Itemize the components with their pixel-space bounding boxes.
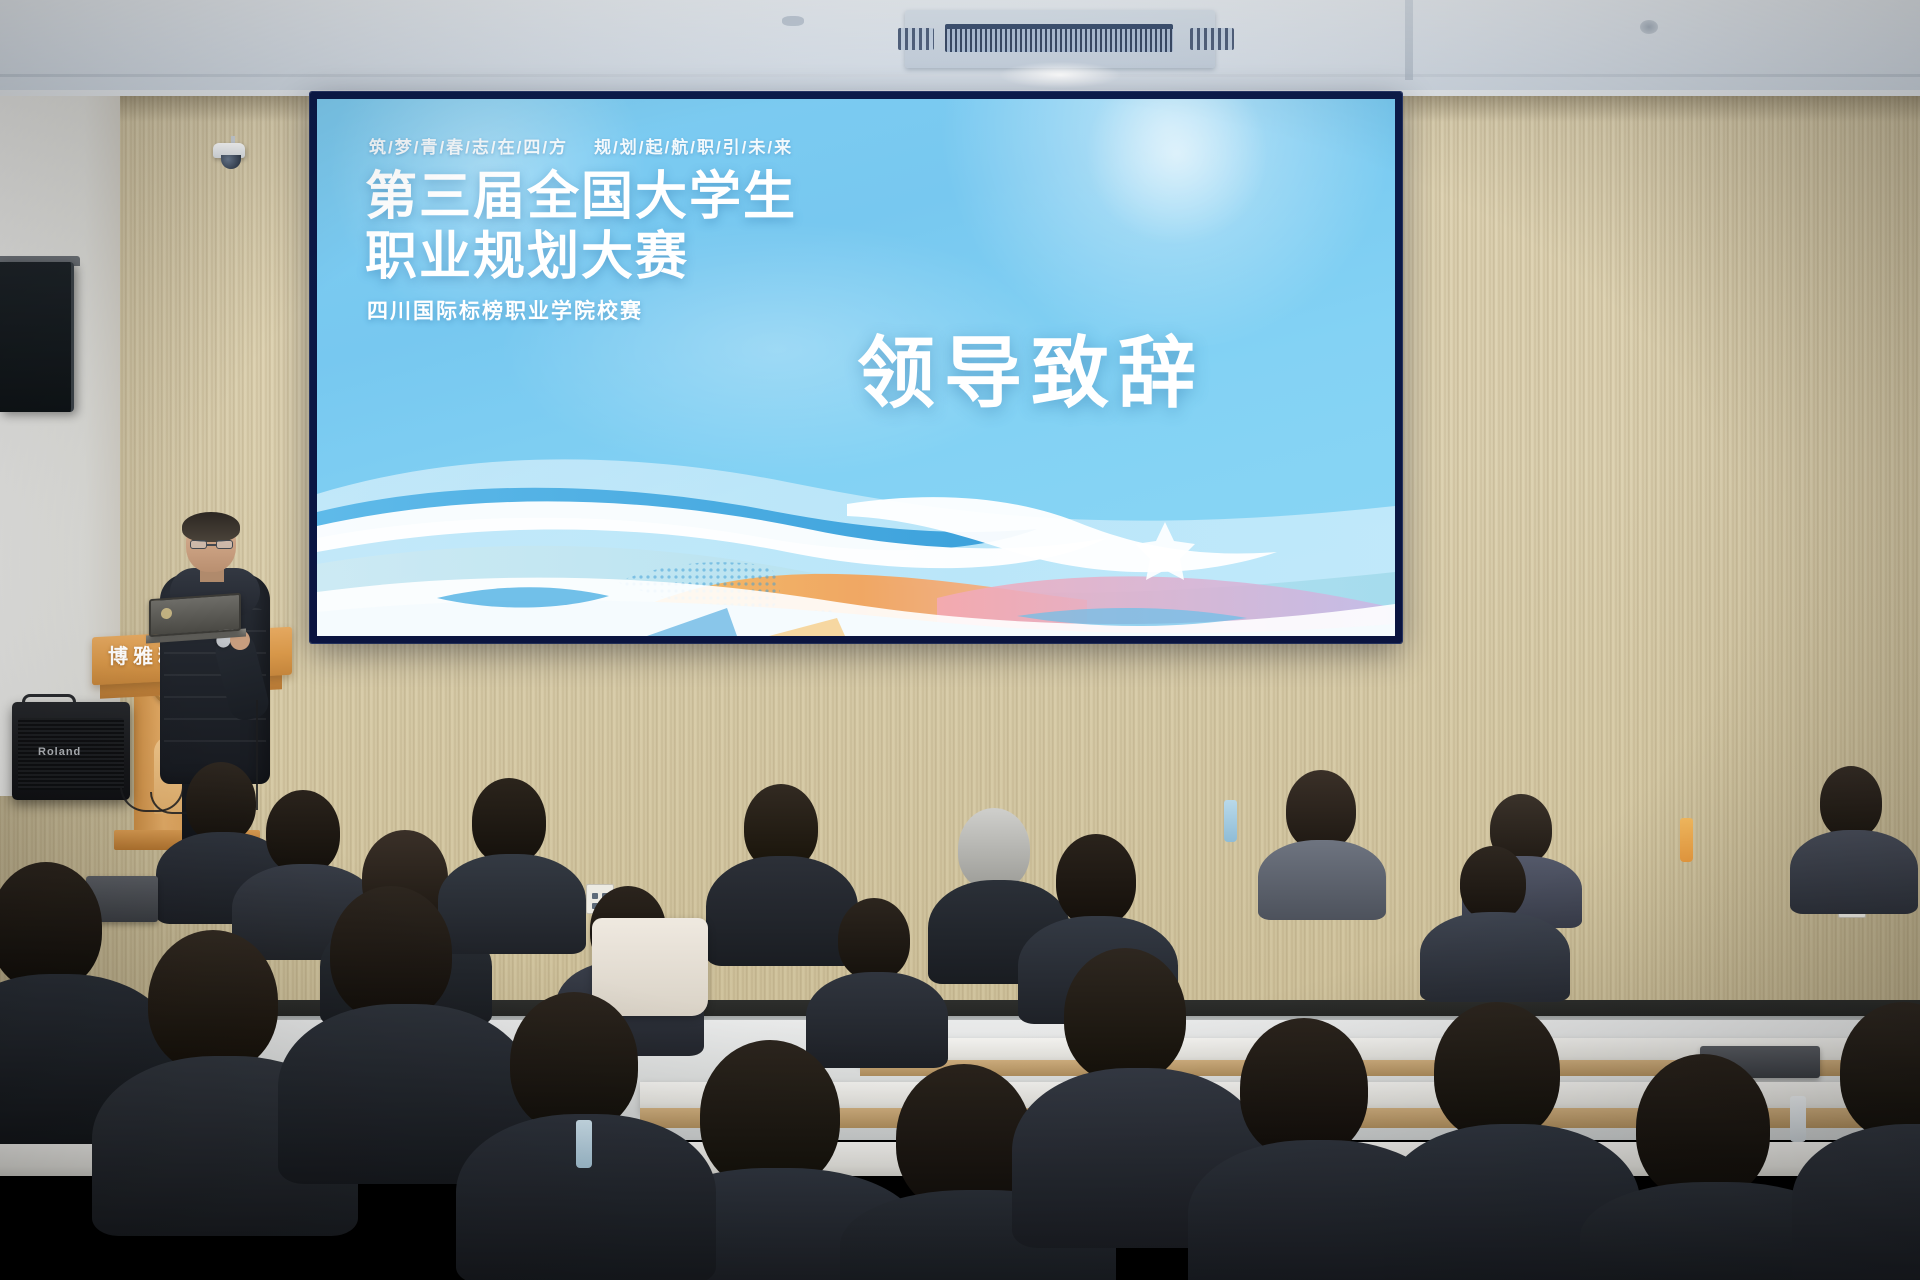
audience-head-front [1064, 948, 1186, 1082]
ceiling-spot-light [1640, 20, 1658, 34]
audience-head [1056, 834, 1136, 926]
audience-head-front [1434, 1002, 1560, 1140]
drink-bottle [1224, 800, 1237, 842]
audience-head [1460, 846, 1526, 920]
handbag [592, 918, 708, 1016]
ceiling-seam [0, 74, 1920, 77]
audience-head [1820, 766, 1882, 838]
audience-head-front [330, 886, 452, 1020]
audience-head-front [148, 930, 278, 1072]
audience-head [186, 762, 256, 842]
slide-title-line2: 职业规划大赛 [365, 227, 797, 287]
audience-shoulders [1258, 840, 1386, 920]
slide-tagline: 筑/梦/青/春/志/在/四/方规/划/起/航/职/引/未/来 [369, 133, 793, 158]
lecture-hall-photo: 筑/梦/青/春/志/在/四/方规/划/起/航/职/引/未/来 第三届全国大学生 … [0, 0, 1920, 1280]
ac-vent-side-left [898, 28, 934, 50]
slide-title-line1: 第三届全国大学生 [365, 167, 797, 227]
slide-subtitle: 四川国际标榜职业学院校赛 [367, 295, 643, 325]
wall-monitor [0, 262, 74, 412]
audience-head [266, 790, 340, 874]
ac-vent-side-right [1190, 28, 1234, 50]
audience-head-front [1636, 1054, 1770, 1200]
smoke-detector-icon [782, 16, 804, 26]
audience-shoulders [806, 972, 948, 1068]
speaker-hair [182, 512, 240, 542]
drink-bottle [1680, 818, 1693, 862]
audience-shoulders [706, 856, 858, 966]
security-camera-icon [213, 143, 247, 169]
audience-shoulders [438, 854, 586, 954]
audience-shoulders [1420, 912, 1570, 1002]
audience-head [472, 778, 546, 864]
projection-screen: 筑/梦/青/春/志/在/四/方规/划/起/航/职/引/未/来 第三届全国大学生 … [317, 99, 1395, 636]
audience-head-front [1240, 1018, 1368, 1158]
slide-title: 第三届全国大学生 职业规划大赛 [365, 167, 797, 287]
laptop-logo-icon [161, 608, 172, 620]
slide-light-blob-2 [1077, 99, 1277, 249]
slide-tagline-right: 规/划/起/航/职/引/未/来 [594, 138, 793, 157]
drink-bottle [1790, 1096, 1806, 1142]
audience-shoulders [1790, 830, 1918, 914]
projection-screen-frame: 筑/梦/青/春/志/在/四/方规/划/起/航/职/引/未/来 第三届全国大学生 … [310, 92, 1402, 643]
amplifier: Roland [12, 702, 130, 800]
glasses-icon [190, 540, 234, 549]
audience-head-capped [958, 808, 1030, 890]
slide-wave-graphic [317, 386, 1395, 636]
audience-head [1286, 770, 1356, 850]
audience-head-front [510, 992, 638, 1132]
drink-bottle [576, 1120, 592, 1168]
audience-head [838, 898, 910, 980]
laptop[interactable] [146, 596, 244, 640]
ceiling-light-glow [1000, 62, 1120, 88]
wave-svg [317, 386, 1395, 636]
slide-tagline-left: 筑/梦/青/春/志/在/四/方 [369, 138, 568, 157]
audience-head-front [0, 862, 102, 990]
amplifier-brand-label: Roland [38, 746, 81, 758]
ac-vent-grille [945, 24, 1173, 52]
ceiling-trim [1405, 0, 1413, 80]
mic-cable [256, 700, 262, 810]
